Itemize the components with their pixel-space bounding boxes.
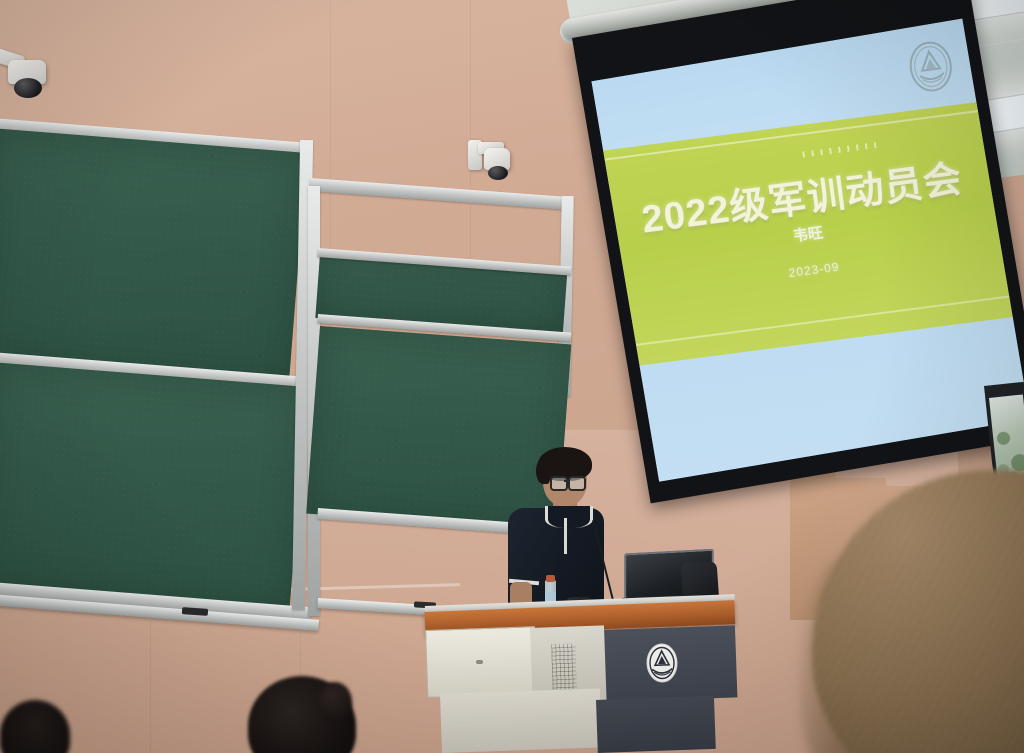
blackboard-left-upper [0, 128, 307, 382]
blackboard-center-middle [306, 326, 571, 532]
eyeglasses-icon [568, 476, 586, 491]
eyeglasses-bridge [564, 480, 569, 482]
presenter-collar [545, 506, 593, 528]
university-emblem-icon [643, 640, 681, 685]
slide-surface: 2022级军训动员会 韦旺 2023-09 [592, 19, 1024, 482]
lecture-hall-photo: 2022级军训动员会 韦旺 2023-09 [0, 0, 1024, 753]
projection-screen: 2022级军训动员会 韦旺 2023-09 [572, 0, 1024, 503]
wall-tile-line [150, 620, 151, 753]
presenter-hair-side [536, 458, 550, 484]
blackboard-left-lower [0, 362, 307, 612]
water-bottle-cap[interactable] [546, 575, 555, 582]
camera-dome-icon [14, 78, 42, 98]
lectern-base-dark [596, 696, 716, 753]
water-bottle-label [545, 592, 556, 601]
presenter-placket [564, 518, 567, 554]
university-emblem-icon [902, 36, 959, 98]
audience-hair-bun [318, 682, 352, 722]
eyeglasses-icon [550, 476, 568, 491]
lectern-base [440, 688, 602, 753]
camera-dome-icon [488, 166, 508, 180]
cabinet-handle[interactable] [476, 660, 483, 664]
